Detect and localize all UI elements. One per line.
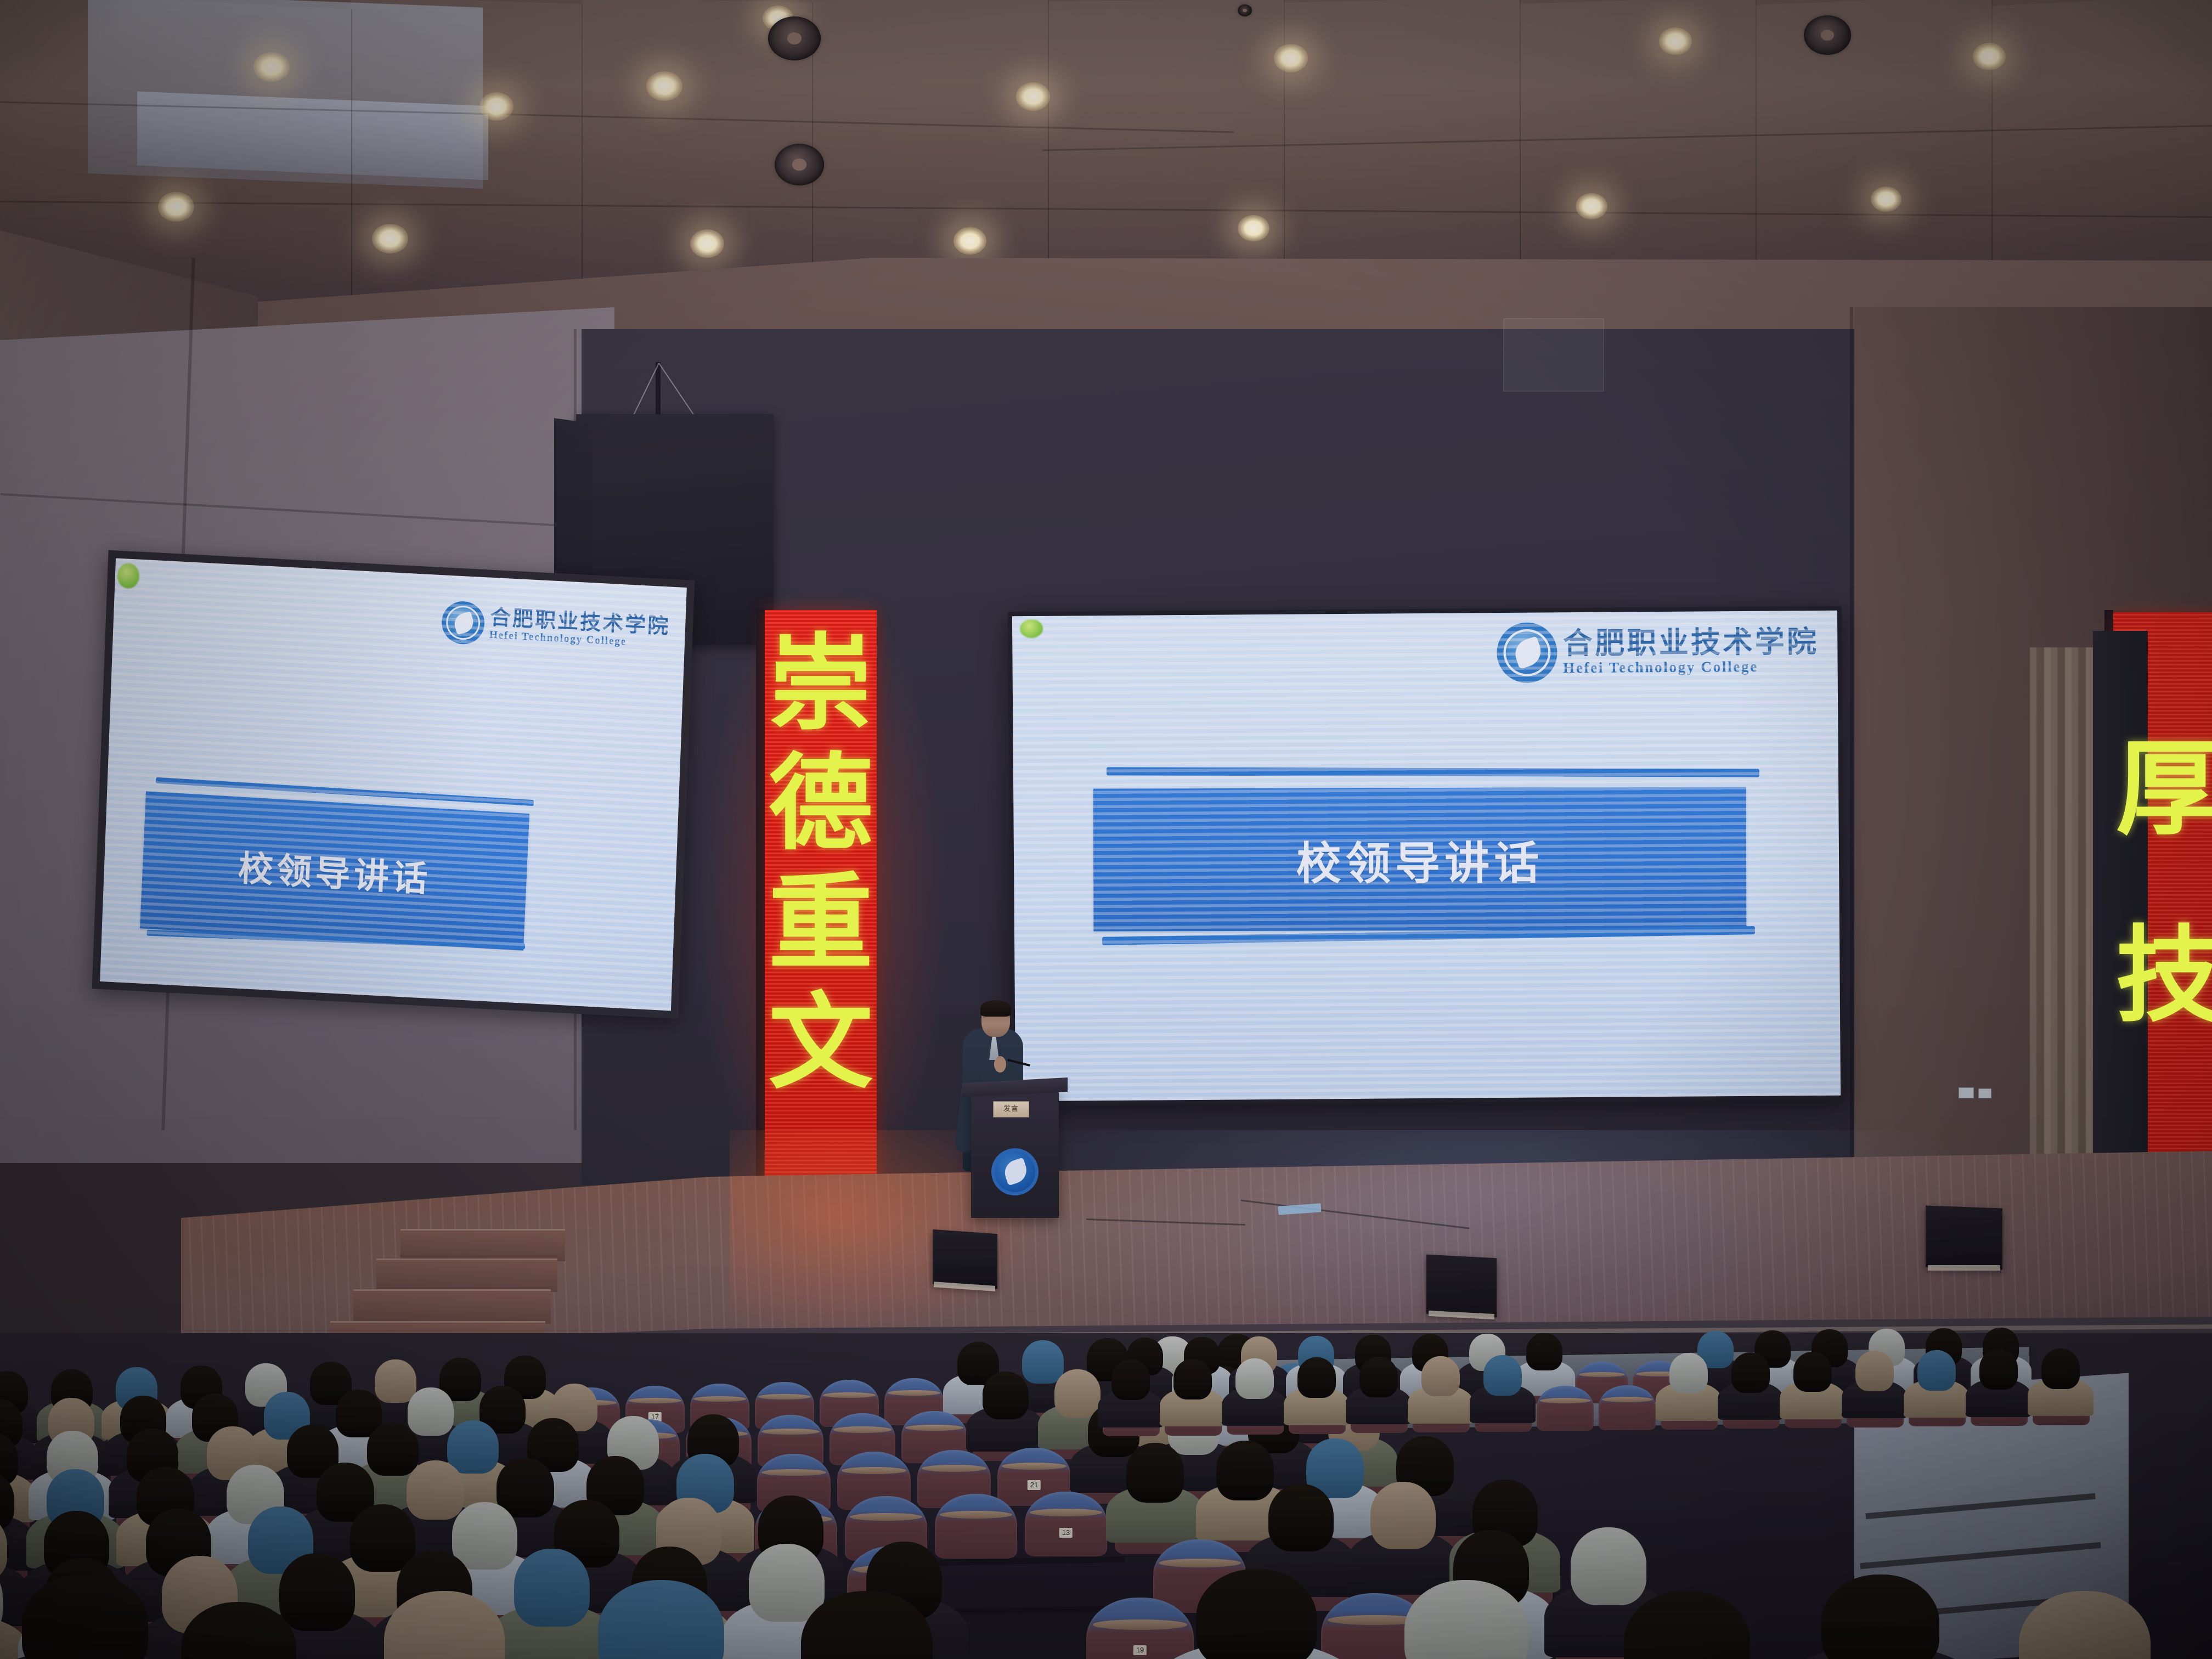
audience-member-head [1126,1443,1184,1503]
audience-member-head [1173,1359,1212,1400]
audience-member-head [1821,1575,1939,1659]
seat-trim [1540,1398,1590,1403]
seat-number: 19 [1133,1645,1147,1655]
ceiling-downlight [1016,82,1050,111]
green-indicator-dot [1020,619,1043,638]
seat-number: 21 [1028,1480,1041,1490]
banner-character: 厚 [2116,738,2212,843]
audience-member-head [1793,1352,1832,1392]
auditorium-seat[interactable]: 19 [1086,1598,1194,1659]
slide-title-box: 校领导讲话 [140,791,529,951]
audience-member-head [350,1504,415,1572]
slide-org-name-en: Hefei Technology College [1563,658,1819,676]
ceiling-downlight [690,229,724,258]
auditorium-seat[interactable] [935,1494,1017,1559]
slide-logo-block: 合肥职业技术学院 Hefei Technology College [1497,620,1819,683]
ceiling-downlight [1576,193,1607,219]
audience-member-head [2041,1348,2080,1389]
audience-member-head [983,1372,1029,1419]
banner-character: 技 [2116,925,2212,1029]
slide-org-name-cn: 合肥职业技术学院 [1563,627,1819,659]
ceiling-downlight [1659,27,1692,55]
college-emblem-icon [1497,622,1558,683]
lectern-college-emblem-icon [991,1148,1039,1195]
slide-title: 校领导讲话 [237,840,432,901]
seat-back [1537,1386,1594,1431]
ceiling-downlight [158,192,194,222]
audience-member-head [1111,1359,1150,1400]
lectern: 发言 [971,1089,1059,1218]
audience-member-head [1268,1484,1334,1551]
audience-member-head [375,1359,416,1403]
seat-trim [1093,1620,1187,1629]
seat-trim [693,1396,746,1402]
ceiling-downlight [1973,43,2006,70]
audience-member-head [1022,1340,1064,1384]
stage-masking-leg [2093,631,2148,1180]
audience-member-head [367,1423,419,1476]
auditorium-photo: 合肥职业技术学院 Hefei Technology College 校领导讲话 [0,0,2212,1659]
seat-trim [1002,1463,1066,1470]
seat-number: 13 [1059,1528,1073,1538]
audience-member-head [1370,1482,1436,1549]
seat-trim [833,1426,891,1432]
college-emblem-icon [441,600,485,645]
ceiling-downlight [372,224,408,253]
audience-member-head [749,1544,824,1622]
audience-member-head [1669,1353,1708,1393]
stage-monitor-speaker [933,1229,997,1289]
audience-member-head [1196,1569,1317,1659]
wall-sign-icon [1978,1088,1991,1098]
auditorium-seat[interactable] [1537,1386,1594,1431]
stage-step [400,1229,565,1261]
seat-back [1025,1492,1107,1556]
seat-trim [940,1511,1012,1519]
red-vertical-banner-left: 崇德重文 [765,610,877,1204]
wall-access-panel [1503,318,1604,392]
audience-member-head [1421,1356,1460,1397]
speaker-hair [980,1000,1011,1017]
ceiling-downlight [1871,187,1901,212]
slide-title: 校领导讲话 [1296,826,1543,892]
ceiling-sprinkler [1238,4,1252,16]
audience-member-head [1526,1333,1562,1370]
audience-member-head [1216,1441,1274,1500]
audience-member-head [1297,1357,1336,1398]
audience-member-head [1979,1349,2018,1390]
lectern-nameplate: 发言 [993,1101,1029,1118]
slide-center: 合肥职业技术学院 Hefei Technology College 校领导讲话 [1012,611,1841,1101]
ceiling-panel [351,0,583,312]
audience-member-head [1855,1351,1894,1391]
audience-member-head [279,1553,354,1631]
banner-character: 重 [769,872,873,977]
seat-back [935,1494,1017,1559]
stage-monitor-speaker [1926,1206,2002,1270]
audience-member-head [1917,1350,1956,1391]
audience-member-head [407,1460,464,1520]
audience-member-head [1054,1369,1101,1417]
audience-member-head [1235,1358,1274,1399]
audience-member-head [514,1549,589,1627]
ceiling-air-vent [1804,15,1851,55]
banner-character: 崇 [769,633,873,737]
audience-member-head [1483,1355,1522,1396]
audience-member-head [1359,1357,1398,1397]
led-video-wall[interactable]: 合肥职业技术学院 Hefei Technology College 校领导讲话 [1008,606,1845,1106]
seat-trim [922,1465,986,1472]
ceiling-downlight [253,52,290,82]
seat-trim [842,1467,906,1474]
audience-member-head [1571,1527,1646,1605]
seat-trim [1159,1559,1241,1567]
ceiling-downlight [646,71,682,101]
ceiling-air-vent [775,144,824,185]
seat-trim [850,1513,922,1521]
audience-member-head [447,1420,499,1474]
audience-member-head [1731,1352,1770,1393]
seat-trim [1030,1509,1102,1516]
banner-character: 德 [769,753,873,857]
auditorium-seat[interactable] [1599,1385,1656,1430]
stage-step [376,1259,557,1292]
audience-member-head [452,1502,517,1570]
stage-monitor-speaker [1426,1255,1497,1318]
ceiling-downlight [953,227,986,255]
led-surface: 合肥职业技术学院 Hefei Technology College 校领导讲话 [1012,611,1841,1101]
slide-rule-top [1107,767,1759,777]
ceiling-downlight [479,92,513,121]
green-indicator-dot [117,563,140,589]
lectern-nameplate-text: 发言 [994,1102,1029,1116]
stage-step [353,1289,551,1324]
ceiling-air-vent [768,16,821,60]
wall-seam [1850,307,1853,1185]
auditorium-seat[interactable]: 13 [1025,1492,1107,1556]
slide-title-box: 校领导讲话 [1093,787,1747,932]
ceiling-downlight [1238,215,1269,241]
banner-character: 文 [769,992,873,1096]
monitor-foot [1928,1265,2000,1271]
seat-trim [823,1392,875,1398]
seat-trim [905,1425,963,1431]
slide-left: 合肥职业技术学院 Hefei Technology College 校领导讲话 [100,558,687,1011]
projection-screen[interactable]: 合肥职业技术学院 Hefei Technology College 校领导讲话 [92,550,695,1019]
banner-edge [756,608,765,1184]
audience-member-head [408,1387,454,1435]
slide-logo-block: 合肥职业技术学院 Hefei Technology College [441,600,670,654]
seat-back [1599,1385,1656,1430]
projection-surface: 合肥职业技术学院 Hefei Technology College 校领导讲话 [100,558,687,1011]
wall-sign-icon [1959,1087,1974,1098]
ceiling-downlight [1274,44,1308,72]
speaker-hand-right [994,1056,1006,1073]
truss-mast [656,362,661,422]
